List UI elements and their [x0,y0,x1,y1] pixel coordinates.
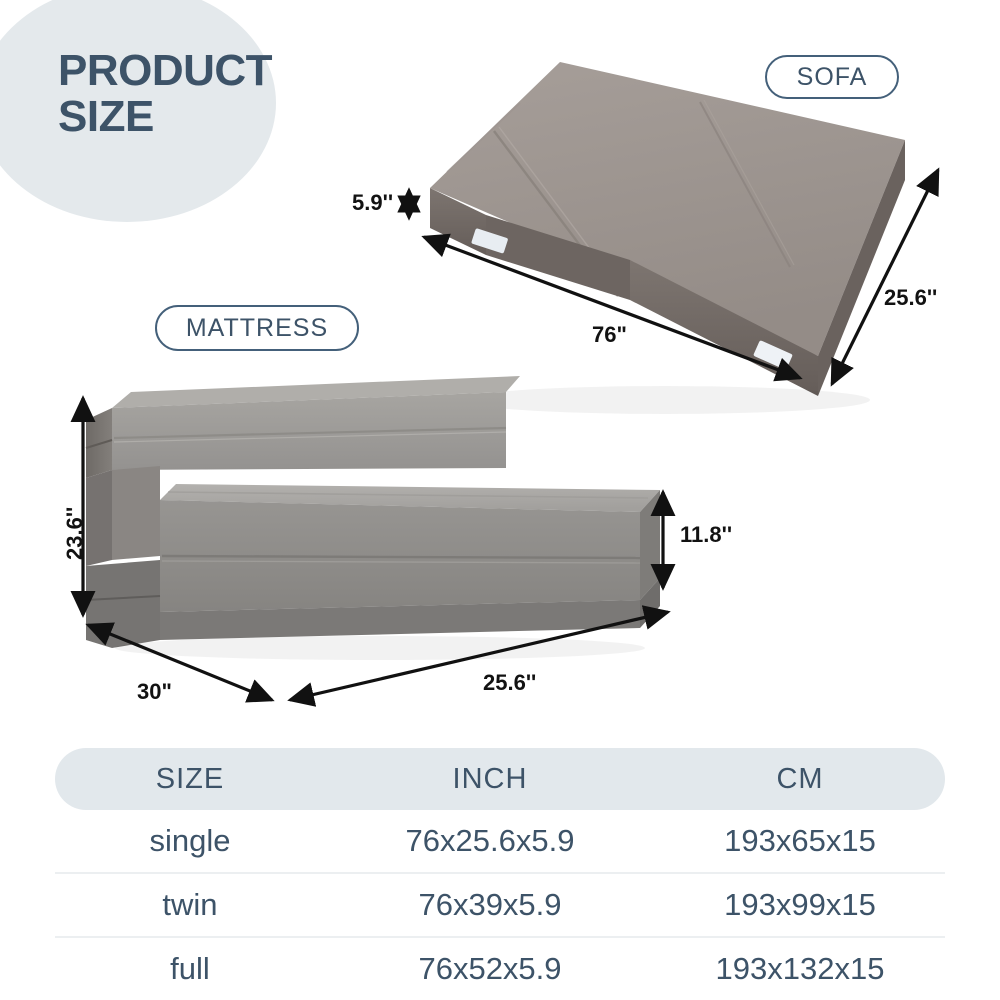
cell-inch: 76x52x5.9 [325,951,655,987]
page-title: PRODUCT SIZE [58,48,388,140]
page-title-line2: SIZE [58,94,388,140]
cell-size: full [55,951,325,987]
cell-size: twin [55,887,325,923]
fold-tab [471,228,508,254]
fold-tab [753,340,793,370]
folded-pad-dimension-lines [409,170,938,384]
table-header-inch: INCH [325,763,655,796]
sofa-illustration [86,376,660,660]
dim-label-sofa-length: 76" [592,322,627,348]
dim-label-sofa-width: 25.6'' [884,285,937,311]
dim-label-mattress-width: 25.6'' [483,670,536,696]
cell-cm: 193x65x15 [655,823,945,859]
cell-inch: 76x39x5.9 [325,887,655,923]
infographic-canvas: PRODUCT SIZE [0,0,1000,1000]
cell-cm: 193x132x15 [655,951,945,987]
dim-label-sofa-thickness: 5.9'' [352,190,393,216]
dim-label-mattress-total-height: 23.6'' [62,507,88,560]
cell-cm: 193x99x15 [655,887,945,923]
badge-mattress: MATTRESS [155,305,359,351]
cell-size: single [55,823,325,859]
sofa-dimension-lines [83,398,668,700]
table-header-size: SIZE [55,763,325,796]
dim-label-mattress-depth: 30" [137,679,172,705]
table-row: twin 76x39x5.9 193x99x15 [55,874,945,938]
table-row: single 76x25.6x5.9 193x65x15 [55,810,945,874]
table-row: full 76x52x5.9 193x132x15 [55,938,945,1000]
table-header-cm: CM [655,763,945,796]
folded-pad-illustration [430,62,905,414]
page-title-line1: PRODUCT [58,46,272,95]
badge-sofa: SOFA [765,55,899,99]
dim-label-mattress-seat-height: 11.8'' [680,522,732,548]
table-header-row: SIZE INCH CM [55,748,945,810]
size-table: SIZE INCH CM single 76x25.6x5.9 193x65x1… [55,748,945,1000]
cell-inch: 76x25.6x5.9 [325,823,655,859]
